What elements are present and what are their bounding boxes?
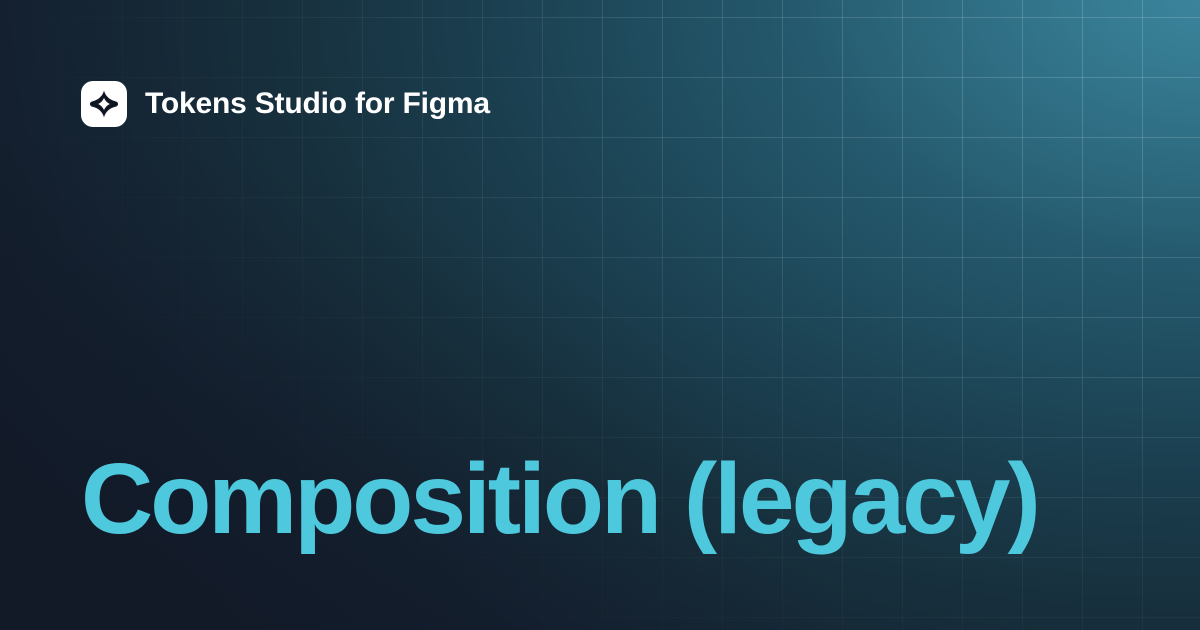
tokens-studio-diamond-icon (81, 81, 127, 127)
og-card: Tokens Studio for Figma Composition (leg… (0, 0, 1200, 630)
brand-name: Tokens Studio for Figma (145, 89, 490, 119)
brand-header: Tokens Studio for Figma (81, 81, 490, 127)
page-title: Composition (legacy) (81, 447, 1038, 552)
card-content: Tokens Studio for Figma Composition (leg… (0, 0, 1200, 630)
